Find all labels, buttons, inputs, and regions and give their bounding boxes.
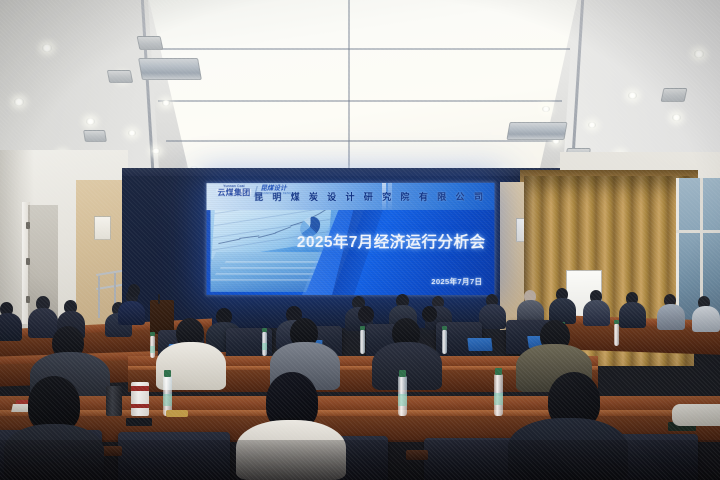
podium [150, 300, 174, 334]
downlight [628, 92, 637, 99]
ac-vent [506, 122, 567, 140]
attendee-body [692, 306, 720, 332]
downlight [14, 98, 24, 106]
slide-title: 2025年7月经济运行分析会 [297, 230, 486, 252]
attendee-body [0, 313, 22, 341]
floor-shadow [0, 440, 720, 480]
ac-vent [107, 70, 134, 83]
downlight [42, 44, 52, 52]
ac-vent [83, 130, 107, 142]
panel-seam-vertical [348, 0, 350, 168]
bottle-cap [495, 368, 502, 375]
attendee-body [619, 302, 646, 328]
ac-vent [138, 58, 202, 80]
door-hinge [26, 222, 30, 229]
bottle-cap [360, 326, 365, 330]
water-bottle[interactable] [442, 330, 447, 354]
bottle-cap [399, 370, 406, 377]
bottle-cap [614, 320, 619, 324]
panel-seam-h2 [158, 100, 562, 102]
phone[interactable] [126, 418, 152, 426]
ac-vent [137, 36, 164, 50]
attendee-body [118, 301, 145, 325]
attendee-body-foreground [372, 342, 442, 390]
attendee-body [583, 300, 610, 326]
presenter-head [128, 284, 140, 297]
downlight [542, 106, 550, 112]
logo-yunnan-coal: Yunnan Coal 云煤集团 [216, 185, 251, 197]
wall-sign-left [94, 216, 111, 240]
slide-company-name: 昆 明 煤 炭 设 计 研 究 院 有 限 公 司 [254, 190, 486, 203]
conference-room-photo: Yunnan Coal 云煤集团 昆煤设计 KUNMING COAL DESIG… [0, 0, 720, 480]
bottle-label [163, 394, 172, 406]
snack-wrapper [166, 410, 188, 417]
attendee-arm [672, 404, 720, 426]
laptop[interactable] [467, 338, 492, 351]
bottle-cap [262, 328, 267, 332]
downlight [128, 130, 136, 136]
thermos-cup[interactable] [106, 386, 122, 416]
bottle-label [398, 394, 407, 406]
downlight [162, 100, 170, 106]
panel-seam-h3 [166, 140, 554, 142]
attendee-head [358, 306, 374, 323]
attendee-body [479, 304, 506, 329]
downlight [694, 50, 704, 58]
downlight [588, 122, 596, 128]
bottle-label [150, 346, 155, 353]
illuminated-ceiling-panel [148, 0, 578, 168]
bottle-cap [164, 370, 171, 377]
ac-vent [661, 88, 688, 102]
panel-seam-h1 [152, 48, 570, 50]
downlight [672, 114, 681, 121]
thermos-band [131, 404, 149, 408]
bottle-cap [150, 332, 155, 336]
downlight [152, 148, 160, 154]
bottle-label [262, 343, 267, 350]
led-presentation-screen[interactable]: Yunnan Coal 云煤集团 昆煤设计 KUNMING COAL DESIG… [207, 183, 495, 295]
door-hinge [26, 258, 30, 265]
logo-yunnan-coal-cn: 云煤集团 [216, 189, 251, 197]
slide-date: 2025年7月7日 [431, 276, 482, 287]
microphone [158, 294, 160, 304]
bottle-cap [442, 326, 447, 330]
downlight [86, 118, 95, 125]
thermos-band [131, 386, 149, 391]
attendee-body [657, 304, 685, 330]
railing-post [98, 276, 100, 318]
water-bottle[interactable] [360, 330, 365, 354]
door-hinge [26, 296, 30, 303]
attendee-head [422, 306, 437, 322]
window-mullion [676, 230, 720, 233]
bottle-label [494, 393, 503, 405]
water-bottle[interactable] [614, 324, 619, 346]
